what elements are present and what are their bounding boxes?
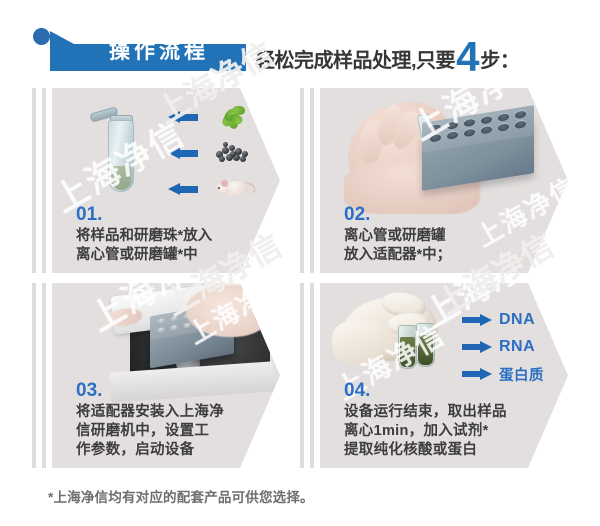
sample-row-beads xyxy=(168,142,272,164)
mouse-icon xyxy=(214,176,254,201)
right-arrow-icon xyxy=(462,368,492,380)
side-bar-inner xyxy=(310,88,314,273)
step-card-03: 上海净信 上海净信 03. 将适配器安装入上海净 信研磨机中，设置工 作参数，启… xyxy=(32,283,280,468)
grinding-beads-icon xyxy=(214,142,252,164)
side-bar-outer xyxy=(300,283,304,468)
page-header: 操作流程 轻松完成样品处理,只要 4 步： xyxy=(0,0,600,86)
card-body-01: 上海净信 01. 将样品和研磨珠*放入 离心管或研磨罐*中 xyxy=(52,88,280,273)
step-number-04: 04. xyxy=(344,381,507,400)
card-body-02: 上海净信 上海净信 02. 离心管或研磨罐 放入适配器*中； xyxy=(320,88,568,273)
card-side-bars xyxy=(32,283,50,468)
output-label: RNA xyxy=(499,338,535,356)
left-arrow-icon xyxy=(168,147,198,159)
output-label: DNA xyxy=(499,311,535,329)
step-text-block-02: 02. 离心管或研磨罐 放入适配器*中； xyxy=(344,205,451,265)
sample-tube xyxy=(398,325,417,369)
step-line: 提取纯化核酸或蛋白 xyxy=(344,441,507,460)
right-arrow-icon xyxy=(462,341,492,353)
tube-body xyxy=(108,120,134,192)
sample-mouse xyxy=(212,172,258,206)
step-line: 离心1min，加入试剂* xyxy=(344,422,507,441)
sample-tube xyxy=(416,323,435,367)
sample-leaf xyxy=(212,100,258,134)
infographic-page: 操作流程 轻松完成样品处理,只要 4 步： xyxy=(0,0,600,526)
output-row-rna: RNA xyxy=(462,336,535,358)
tube-liquid xyxy=(111,166,131,190)
step-number-01: 01. xyxy=(76,205,212,224)
right-arrow-icon xyxy=(462,314,492,326)
step-card-04: DNA RNA 蛋白质 上海净信 上海净信 04. xyxy=(300,283,568,468)
output-row-dna: DNA xyxy=(462,309,535,331)
card-body-04: DNA RNA 蛋白质 上海净信 上海净信 04. xyxy=(320,283,568,468)
section-tag-label: 操作流程 xyxy=(84,34,234,70)
subtitle-step-count: 4 xyxy=(456,40,479,74)
centrifuge-tube-icon xyxy=(108,120,134,202)
art-hand-holding-adapter xyxy=(344,96,548,214)
side-bar-inner xyxy=(42,283,46,468)
subtitle-prefix: 轻松完成样品处理,只要 xyxy=(255,44,455,73)
step-number-02: 02. xyxy=(344,205,451,224)
footer-note: *上海净信均有对应的配套产品可供您选择。 xyxy=(48,486,568,510)
hand xyxy=(186,285,270,337)
card-body-03: 上海净信 上海净信 03. 将适配器安装入上海净 信研磨机中，设置工 作参数，启… xyxy=(52,283,280,468)
side-bar-outer xyxy=(32,283,36,468)
step-text-block-01: 01. 将样品和研磨珠*放入 离心管或研磨罐*中 xyxy=(76,205,212,265)
subtitle-suffix: 步： xyxy=(480,44,519,73)
side-bar-outer xyxy=(32,88,36,273)
side-bar-outer xyxy=(300,88,304,273)
card-side-bars xyxy=(32,88,50,273)
header-subtitle: 轻松完成样品处理,只要 4 步： xyxy=(255,36,519,74)
step-line: 离心管或研磨罐*中 xyxy=(76,246,212,265)
card-side-bars xyxy=(300,283,318,468)
art-tube-and-samples xyxy=(72,98,272,216)
left-arrow-icon xyxy=(168,183,198,195)
step-line: 将样品和研磨珠*放入 xyxy=(76,227,212,246)
step-line: 作参数，启动设备 xyxy=(76,441,224,460)
sample-grinding-beads xyxy=(212,136,258,170)
sample-row-leaf xyxy=(168,106,272,128)
step-number-03: 03. xyxy=(76,381,224,400)
side-bar-inner xyxy=(310,283,314,468)
step-line: 信研磨机中，设置工 xyxy=(76,422,224,441)
sample-row-mouse xyxy=(168,178,272,200)
side-bar-inner xyxy=(42,88,46,273)
step-text-block-03: 03. 将适配器安装入上海净 信研磨机中，设置工 作参数，启动设备 xyxy=(76,381,224,460)
step-line: 放入适配器*中； xyxy=(344,246,451,265)
step-text-block-04: 04. 设备运行结束，取出样品 离心1min，加入试剂* 提取纯化核酸或蛋白 xyxy=(344,381,507,460)
step-line: 设备运行结束，取出样品 xyxy=(344,403,507,422)
photo-area xyxy=(344,96,548,214)
left-arrow-icon xyxy=(168,111,198,123)
leaf-icon xyxy=(216,102,246,132)
step-card-01: 上海净信 01. 将样品和研磨珠*放入 离心管或研磨罐*中 xyxy=(32,88,280,273)
card-side-bars xyxy=(300,88,318,273)
glove-cuff xyxy=(332,321,380,365)
step-line: 将适配器安装入上海净 xyxy=(76,403,224,422)
decorative-dot xyxy=(33,28,50,45)
step-card-02: 上海净信 上海净信 02. 离心管或研磨罐 放入适配器*中； xyxy=(300,88,568,273)
step-line: 离心管或研磨罐 xyxy=(344,227,451,246)
